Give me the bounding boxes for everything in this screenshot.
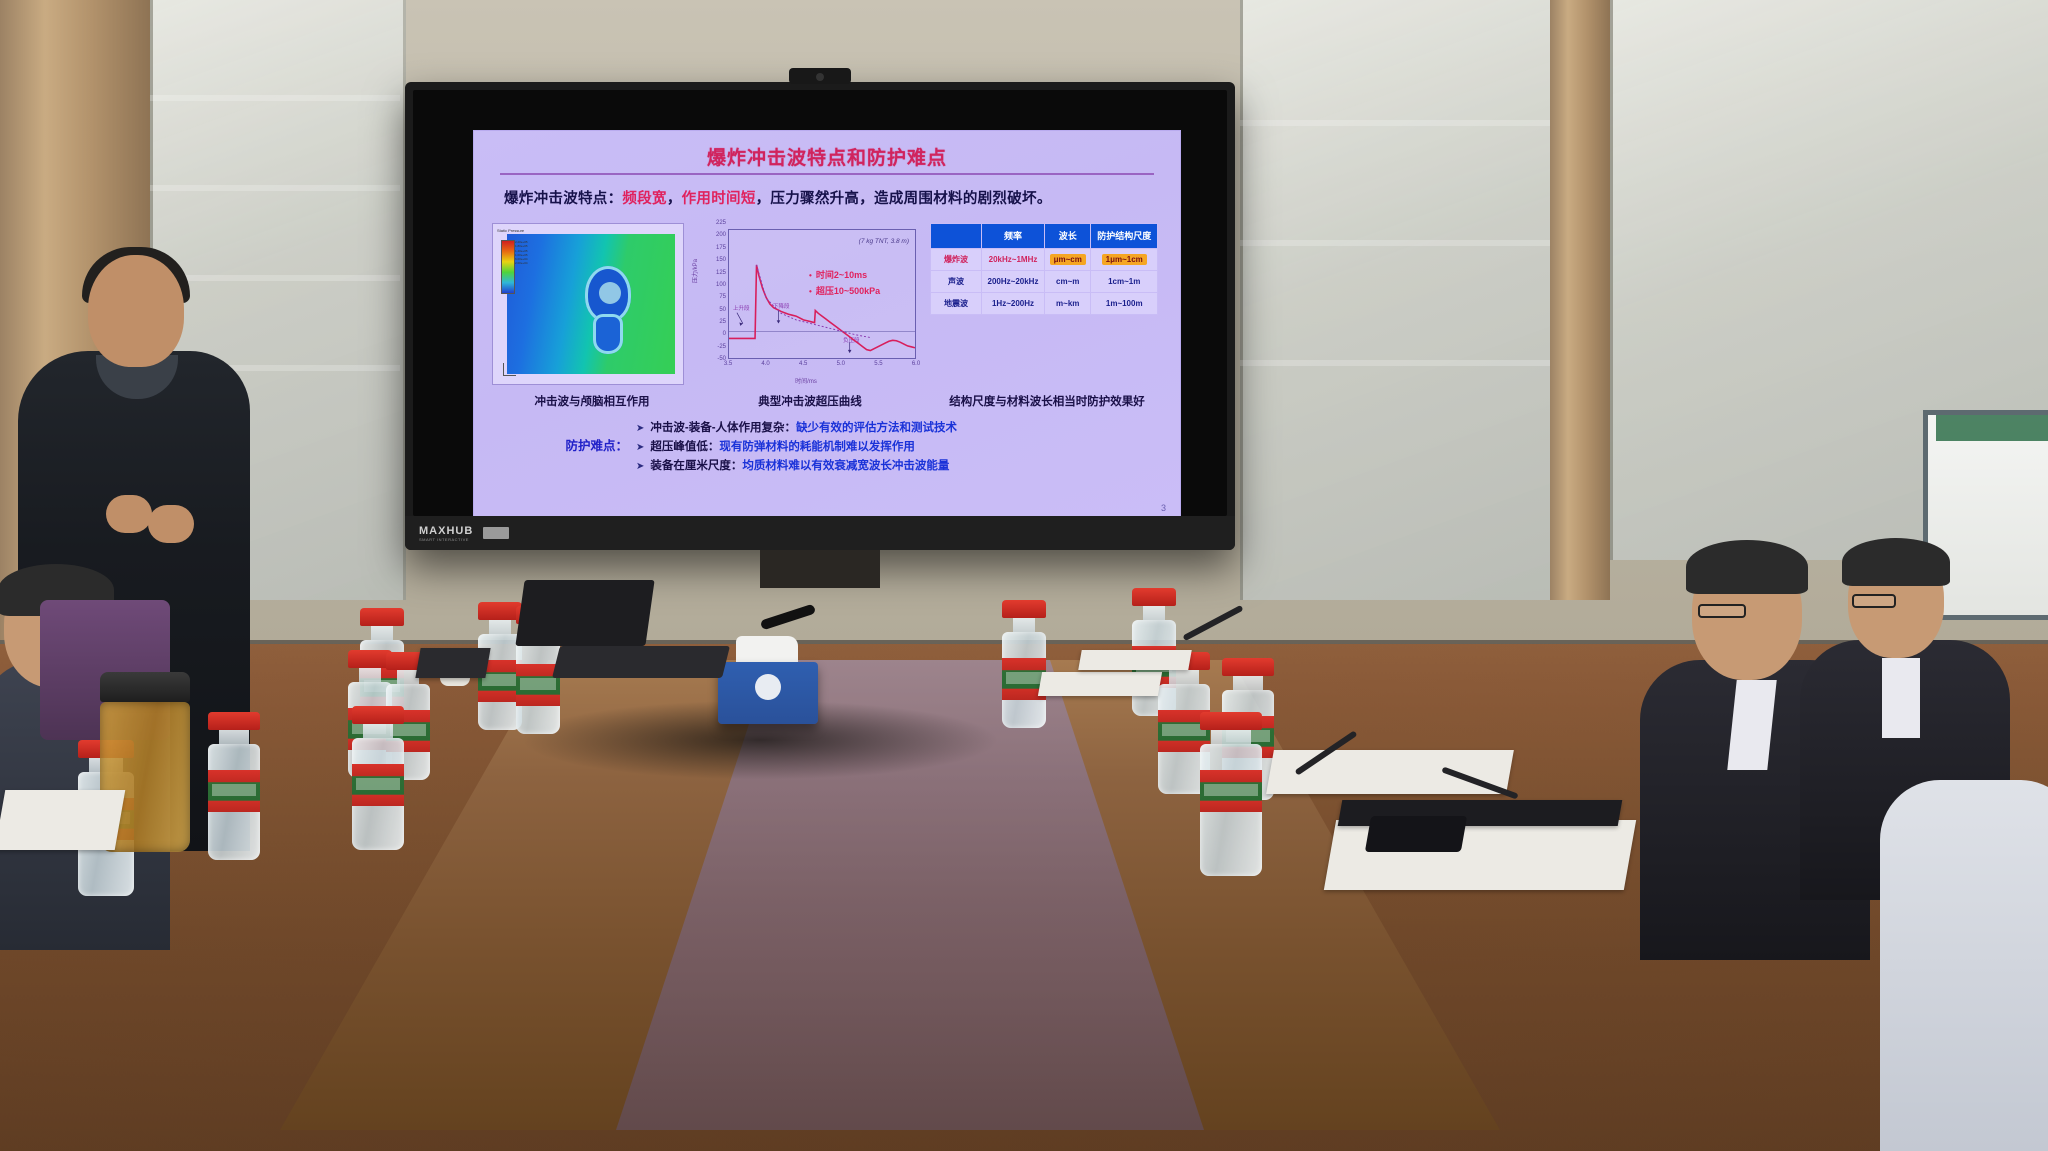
tissue-box[interactable] — [718, 662, 818, 724]
display-screen[interactable]: 爆炸冲击波特点和防护难点 爆炸冲击波特点：频段宽，作用时间短，压力骤然升高，造成… — [413, 90, 1227, 516]
row-wavelength: m~km — [1045, 293, 1091, 315]
bottle-neck — [1013, 618, 1035, 632]
subtitle-highlight-1: 频段宽 — [622, 191, 666, 207]
difficulties-list: ➤冲击波-装备-人体作用复杂：缺少有效的评估方法和测试技术 ➤超压峰值低：现有防… — [636, 419, 1166, 476]
slide-title: 爆炸冲击波特点和防护难点 — [474, 143, 1180, 170]
table-header-wavelength: 波长 — [1045, 224, 1091, 249]
figure-captions: 冲击波与颅脑相互作用 典型冲击波超压曲线 结构尺度与材料波长相当时防护效果好 — [492, 393, 1166, 409]
chart-xtick: 5.5 — [874, 361, 882, 367]
bottle-neck — [219, 730, 249, 744]
paper-stack[interactable] — [1038, 672, 1162, 696]
paper-stack[interactable] — [1078, 650, 1192, 670]
chart-ytick: 125 — [716, 270, 726, 276]
chart-ylabel: 压力/kPa — [690, 259, 699, 283]
wall-band-5 — [1240, 120, 1550, 126]
table-row: 爆炸波 20kHz~1MHz μm~cm 1μm~1cm — [931, 249, 1158, 271]
table-header-scale: 防护结构尺度 — [1091, 224, 1158, 249]
row-frequency: 1Hz~200Hz — [982, 293, 1045, 315]
chart-svg — [729, 230, 915, 358]
bullet-arrow-icon: ➤ — [636, 461, 644, 472]
row-wavelength: cm~m — [1045, 271, 1091, 293]
meeting-room-scene: 爆炸冲击波特点和防护难点 爆炸冲击波特点：频段宽，作用时间短，压力骤然升高，造成… — [0, 0, 2048, 1151]
chart-xtick: 4.5 — [799, 361, 807, 367]
bottle-neck — [1233, 676, 1263, 690]
display-mount — [760, 550, 880, 588]
brain-simulation-panel: Static Pressure 2.20e+05 1.80e+05 1.40e+… — [492, 223, 684, 385]
jar-lid — [100, 672, 190, 702]
title-divider — [500, 173, 1154, 175]
brand-subtext: SMART INTERACTIVE — [419, 537, 473, 542]
bottle-body — [1002, 632, 1046, 728]
wall-band-6 — [1240, 240, 1550, 246]
colorbar-ticks: 2.20e+05 1.80e+05 1.40e+05 1.00e+05 6.00… — [515, 240, 541, 292]
presentation-slide: 爆炸冲击波特点和防护难点 爆炸冲击波特点：频段宽，作用时间短，压力骤然升高，造成… — [473, 130, 1181, 520]
chart-ytick: 75 — [719, 294, 726, 300]
row-scale: 1m~100m — [1091, 293, 1158, 315]
bottle-body — [1200, 744, 1262, 876]
bullet-arrow-icon: ➤ — [636, 442, 644, 453]
wall-band-7 — [1240, 360, 1550, 366]
row-frequency: 20kHz~1MHz — [982, 249, 1045, 271]
bullet-head: 装备在厘米尺度： — [650, 460, 742, 472]
bottle-neck — [363, 724, 393, 738]
caption-table: 结构尺度与材料波长相当时防护效果好 — [928, 393, 1166, 409]
subtitle-sep: ， — [667, 191, 682, 207]
row-scale: 1cm~1m — [1091, 271, 1158, 293]
paper-stack[interactable] — [1266, 750, 1514, 794]
list-item: ➤超压峰值低：现有防弹材料的耗能机制难以发挥作用 — [636, 438, 1166, 457]
subtitle-lead: 爆炸冲击波特点： — [504, 191, 622, 207]
chart-xtick: 5.0 — [837, 361, 845, 367]
table-row: 地震波 1Hz~200Hz m~km 1m~100m — [931, 293, 1158, 315]
list-item: ➤冲击波-装备-人体作用复杂：缺少有效的评估方法和测试技术 — [636, 419, 1166, 438]
caption-brain: 冲击波与颅脑相互作用 — [492, 393, 692, 409]
bottle-cap — [1002, 600, 1046, 618]
bottle-body — [208, 744, 260, 860]
wave-comparison-table: 频率 波长 防护结构尺度 爆炸波 20kHz~1MHz μm~cm 1μm~1c… — [930, 223, 1158, 315]
attendee-right-foreground — [1880, 780, 2048, 1151]
bottle-neck — [1211, 730, 1251, 744]
chart-ytick: 200 — [716, 232, 726, 238]
table-header-blank — [931, 224, 982, 249]
scale-highlight: 1μm~1cm — [1102, 254, 1147, 265]
chart-ytick: 50 — [719, 307, 726, 313]
water-bottle[interactable] — [208, 712, 260, 860]
table-header-frequency: 频率 — [982, 224, 1045, 249]
subtitle-highlight-2: 作用时间短 — [682, 191, 756, 207]
speaker-hand-right — [148, 505, 194, 543]
row-name: 声波 — [931, 271, 982, 293]
bottle-label — [1200, 770, 1262, 812]
bottle-neck — [359, 668, 381, 682]
glasses-icon — [1698, 604, 1746, 618]
laptop-screen[interactable] — [515, 580, 654, 646]
chart-xticks: 3.54.04.55.05.56.0 — [728, 361, 916, 371]
table-header-row: 频率 波长 防护结构尺度 — [931, 224, 1158, 249]
wood-column-right — [1550, 0, 1610, 600]
bottle-cap — [352, 706, 404, 724]
attendee-hair — [1842, 538, 1950, 586]
colorbar-label: Static Pressure — [497, 228, 524, 233]
camera-bar — [789, 68, 851, 84]
attendee-hair — [1686, 540, 1808, 594]
bullet-body: 现有防弹材料的耗能机制难以发挥作用 — [719, 441, 915, 453]
difficulties-block: 防护难点： ➤冲击波-装备-人体作用复杂：缺少有效的评估方法和测试技术 ➤超压峰… — [492, 419, 1166, 476]
chart-xtick: 4.0 — [761, 361, 769, 367]
glass-partition-2 — [1240, 0, 1556, 600]
bottle-neck — [1169, 670, 1199, 684]
water-bottle[interactable] — [1002, 600, 1046, 728]
difficulties-label: 防护难点： — [492, 419, 636, 476]
bottle-cap — [1200, 712, 1262, 730]
bullet-body: 缺少有效的评估方法和测试技术 — [796, 422, 957, 434]
chart-xtick: 6.0 — [912, 361, 920, 367]
colorbar — [501, 240, 515, 294]
chart-xlabel: 时间/ms — [692, 376, 920, 385]
display-bezel-bottom: MAXHUBSMART INTERACTIVE — [405, 516, 1235, 550]
bottle-cap — [1132, 588, 1176, 606]
laptop-base[interactable] — [552, 646, 730, 678]
whiteboard-header-strip — [1936, 415, 2048, 441]
wall-band-2 — [150, 185, 400, 191]
axis-corner-marker — [503, 363, 516, 376]
water-bottle[interactable] — [352, 706, 404, 850]
display-badge — [483, 527, 509, 539]
caption-chart: 典型冲击波超压曲线 — [692, 393, 928, 409]
speaker-hand-left — [106, 495, 152, 533]
chart-ytick: 25 — [719, 319, 726, 325]
paper-stack[interactable] — [0, 790, 125, 850]
chart-ytick: 0 — [723, 331, 726, 337]
attendee-shirt — [1882, 658, 1920, 738]
row-wavelength: μm~cm — [1045, 249, 1091, 271]
wavelength-highlight: μm~cm — [1050, 254, 1086, 265]
bottle-cap — [1222, 658, 1274, 676]
chart-ytick: 175 — [716, 245, 726, 251]
chart-yticks: -50-250255075100125150175200225 — [700, 223, 726, 359]
subtitle-tail: ，压力骤然升高，造成周围材料的剧烈破坏。 — [756, 191, 1052, 207]
row-frequency: 200Hz~20kHz — [982, 271, 1045, 293]
brain-region — [599, 282, 621, 304]
chart-ytick: -25 — [717, 344, 726, 350]
glasses-icon — [1852, 594, 1896, 608]
chart-xtick: 3.5 — [724, 361, 732, 367]
bullet-head: 超压峰值低： — [650, 441, 719, 453]
bullet-arrow-icon: ➤ — [636, 423, 644, 434]
mousepad — [415, 648, 490, 678]
display-brand-logo: MAXHUBSMART INTERACTIVE — [419, 525, 473, 542]
interactive-display[interactable]: 爆炸冲击波特点和防护难点 爆炸冲击波特点：频段宽，作用时间短，压力骤然升高，造成… — [405, 82, 1235, 550]
speaker-head — [88, 255, 184, 367]
tissue-box-logo — [755, 674, 781, 700]
slide-page-number: 3 — [1161, 503, 1166, 513]
bottle-body — [516, 638, 560, 734]
chart-ytick: 150 — [716, 257, 726, 263]
head-silhouette — [579, 266, 637, 354]
overpressure-chart: 压力/kPa -50-250255075100125150175200225 (… — [692, 223, 920, 385]
table-row: 声波 200Hz~20kHz cm~m 1cm~1m — [931, 271, 1158, 293]
chart-ytick: 100 — [716, 282, 726, 288]
chart-ytick: 225 — [716, 220, 726, 226]
bottle-neck — [371, 626, 393, 640]
wall-band-1 — [150, 95, 400, 101]
bottle-cap — [360, 608, 404, 626]
bullet-body: 均质材料难以有效衰减宽波长冲击波能量 — [742, 460, 949, 472]
brand-text: MAXHUB — [419, 525, 473, 537]
slide-subtitle: 爆炸冲击波特点：频段宽，作用时间短，压力骤然升高，造成周围材料的剧烈破坏。 — [504, 187, 1162, 208]
bottle-body — [352, 738, 404, 850]
attendee-body — [1880, 780, 2048, 1151]
water-bottle[interactable] — [1200, 712, 1262, 876]
row-name: 地震波 — [931, 293, 982, 315]
bottle-neck — [1143, 606, 1165, 620]
bullet-head: 冲击波-装备-人体作用复杂： — [650, 422, 796, 434]
bottle-label — [352, 764, 404, 806]
smartphone[interactable] — [1365, 816, 1467, 852]
list-item: ➤装备在厘米尺度：均质材料难以有效衰减宽波长冲击波能量 — [636, 457, 1166, 476]
row-scale: 1μm~1cm — [1091, 249, 1158, 271]
bottle-cap — [208, 712, 260, 730]
bottle-neck — [489, 620, 511, 634]
chart-plot-area: (7 kg TNT, 3.8 m) •时间2~10ms •超压10~500kPa… — [728, 229, 916, 359]
row-name: 爆炸波 — [931, 249, 982, 271]
bottle-label — [208, 770, 260, 812]
colorbar-tick: 2.00e+04 — [515, 261, 541, 265]
